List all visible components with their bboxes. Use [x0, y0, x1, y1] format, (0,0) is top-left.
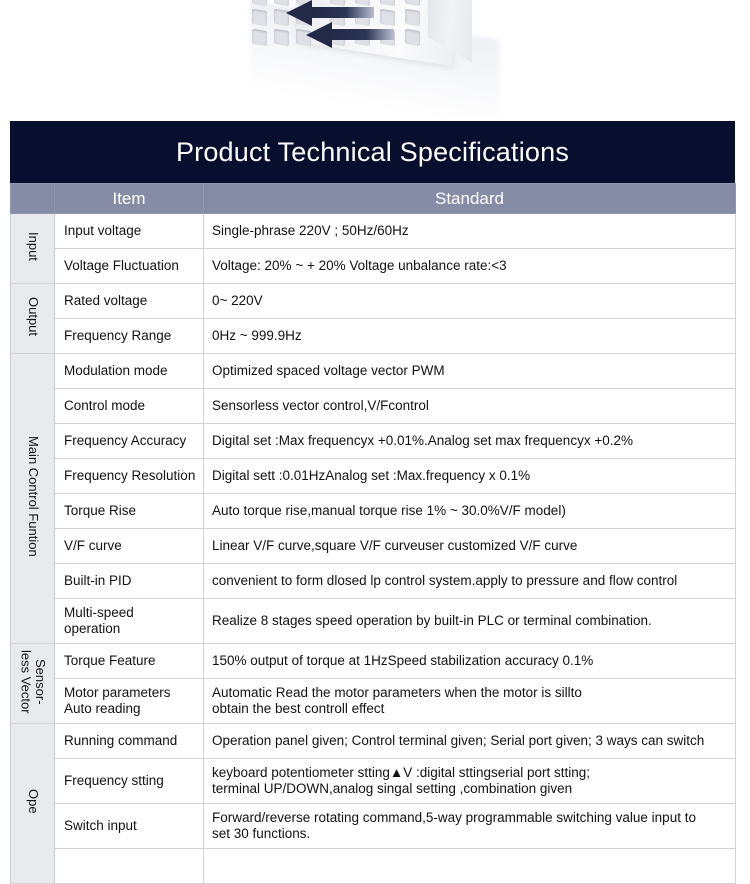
row-item-label: Switch input	[55, 804, 204, 849]
table-row: Frequency Range 0Hz ~ 999.9Hz	[11, 319, 736, 354]
row-item-label: V/F curve	[55, 529, 204, 564]
category-cell-sensorless-vector: Sensor- less Vector	[11, 644, 55, 724]
row-standard-value	[204, 849, 736, 884]
category-cell-output: Output	[11, 284, 55, 354]
row-standard-value: 150% output of torque at 1HzSpeed stabil…	[204, 644, 736, 679]
table-row: Control mode Sensorless vector control,V…	[11, 389, 736, 424]
category-cell-input: Input	[11, 214, 55, 284]
table-row: Main Control Funtion Modulation mode Opt…	[11, 354, 736, 389]
row-standard-value: Automatic Read the motor parameters when…	[204, 679, 736, 724]
row-standard-value: Digital set :Max frequencyx +0.01%.Analo…	[204, 424, 736, 459]
column-header-standard: Standard	[204, 184, 736, 214]
row-item-label: Running command	[55, 724, 204, 759]
row-standard-value: Digital sett :0.01HzAnalog set :Max.freq…	[204, 459, 736, 494]
table-row: Multi-speed operation Realize 8 stages s…	[11, 599, 736, 644]
row-standard-value: Realize 8 stages speed operation by buil…	[204, 599, 736, 644]
table-row: Frequency stting keyboard potentiometer …	[11, 759, 736, 804]
table-row: Frequency Resolution Digital sett :0.01H…	[11, 459, 736, 494]
product-photo	[0, 0, 750, 118]
row-item-label	[55, 849, 204, 884]
row-standard-value: keyboard potentiometer stting▲V :digital…	[204, 759, 736, 804]
table-row: Voltage Fluctuation Voltage: 20% ~ + 20%…	[11, 249, 736, 284]
row-standard-value: Optimized spaced voltage vector PWM	[204, 354, 736, 389]
table-row: Torque Rise Auto torque rise,manual torq…	[11, 494, 736, 529]
row-standard-value: convenient to form dlosed lp control sys…	[204, 564, 736, 599]
row-item-label: Voltage Fluctuation	[55, 249, 204, 284]
row-item-label: Control mode	[55, 389, 204, 424]
category-cell-main-control-funtion: Main Control Funtion	[11, 354, 55, 644]
category-label: Output	[25, 297, 40, 336]
table-row: Frequency Accuracy Digital set :Max freq…	[11, 424, 736, 459]
category-label: Ope	[25, 789, 40, 814]
table-row: Motor parameters Auto reading Automatic …	[11, 679, 736, 724]
category-label: Main Control Funtion	[25, 436, 40, 557]
row-standard-value: Auto torque rise,manual torque rise 1% ~…	[204, 494, 736, 529]
row-item-label: Frequency Resolution	[55, 459, 204, 494]
row-standard-value: Linear V/F curve,square V/F curveuser cu…	[204, 529, 736, 564]
column-header-category	[11, 184, 55, 214]
category-cell-operation: Ope	[11, 724, 55, 884]
row-standard-value: Single-phrase 220V ; 50Hz/60Hz	[204, 214, 736, 249]
row-standard-value: Sensorless vector control,V/Fcontrol	[204, 389, 736, 424]
airflow-arrow-icon	[306, 22, 394, 48]
row-item-label: Frequency stting	[55, 759, 204, 804]
table-row: Sensor- less Vector Torque Feature 150% …	[11, 644, 736, 679]
row-item-label: Built-in PID	[55, 564, 204, 599]
row-item-label: Rated voltage	[55, 284, 204, 319]
row-item-label: Modulation mode	[55, 354, 204, 389]
vent-column	[405, 0, 422, 56]
category-label: Input	[25, 232, 40, 261]
table-row: Ope Running command Operation panel give…	[11, 724, 736, 759]
row-item-label: Torque Rise	[55, 494, 204, 529]
page-title: Product Technical Specifications	[10, 121, 735, 183]
table-row: Output Rated voltage 0~ 220V	[11, 284, 736, 319]
table-row: Built-in PID convenient to form dlosed l…	[11, 564, 736, 599]
row-standard-value: 0~ 220V	[204, 284, 736, 319]
column-header-item: Item	[55, 184, 204, 214]
row-item-label: Multi-speed operation	[55, 599, 204, 644]
row-standard-value: Forward/reverse rotating command,5-way p…	[204, 804, 736, 849]
row-standard-value: Voltage: 20% ~ + 20% Voltage unbalance r…	[204, 249, 736, 284]
row-item-label: Torque Feature	[55, 644, 204, 679]
table-row	[11, 849, 736, 884]
row-item-label: Frequency Range	[55, 319, 204, 354]
category-label: Sensor- less Vector	[18, 650, 47, 714]
row-item-label: Input voltage	[55, 214, 204, 249]
table-row: Switch input Forward/reverse rotating co…	[11, 804, 736, 849]
table-row: Input Input voltage Single-phrase 220V ;…	[11, 214, 736, 249]
row-item-label: Frequency Accuracy	[55, 424, 204, 459]
table-row: V/F curve Linear V/F curve,square V/F cu…	[11, 529, 736, 564]
table-header-row: Item Standard	[11, 184, 736, 214]
table-body: Input Input voltage Single-phrase 220V ;…	[11, 214, 736, 884]
row-standard-value: 0Hz ~ 999.9Hz	[204, 319, 736, 354]
vent-column	[252, 0, 269, 56]
row-item-label: Motor parameters Auto reading	[55, 679, 204, 724]
spec-table-container: Product Technical Specifications Item St…	[10, 121, 735, 884]
row-standard-value: Operation panel given; Control terminal …	[204, 724, 736, 759]
specifications-table: Item Standard Input Input voltage Single…	[10, 183, 736, 884]
